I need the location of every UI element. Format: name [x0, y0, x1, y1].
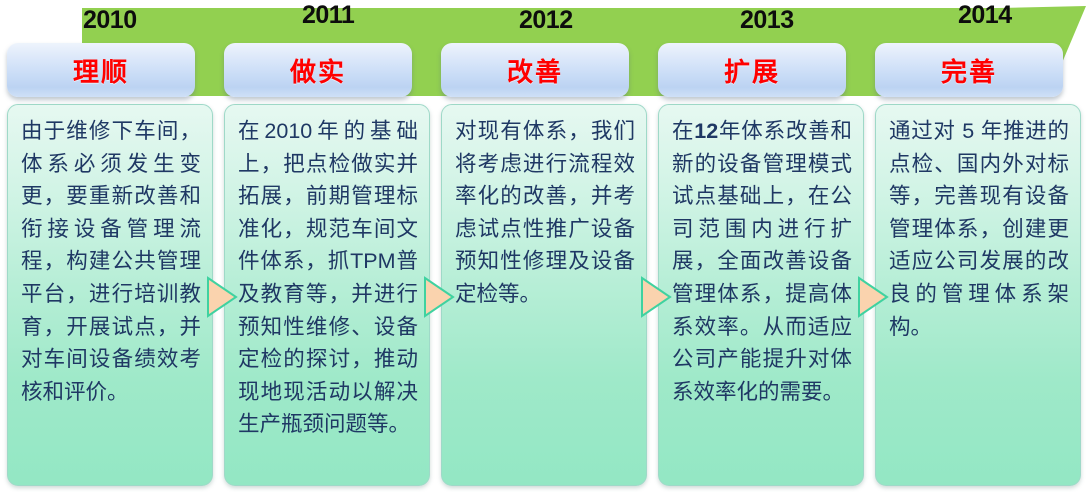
year-label-2014: 2014 [958, 1, 1012, 30]
stage-card-2010[interactable]: 由于维修下车间，体系必须发生变更，要重新改善和衔接设备管理流程，构建公共管理平台… [7, 104, 213, 486]
stage-pill-2014[interactable]: 完善 [875, 43, 1063, 97]
stage-card-2013[interactable]: 在12年体系改善和新的设备管理模式试点基础上，在公司范围内进行扩展，全面改善设备… [658, 104, 864, 486]
stage-card-text: 对现有体系，我们将考虑进行流程效率化的改善，并考虑试点性推广设备预知性修理及设备… [455, 115, 635, 311]
stage-pill-label: 做实 [290, 52, 346, 89]
connector-arrow-2 [423, 276, 455, 318]
stage-card-2012[interactable]: 对现有体系，我们将考虑进行流程效率化的改善，并考虑试点性推广设备预知性修理及设备… [441, 104, 647, 486]
stage-pill-2010[interactable]: 理顺 [7, 43, 195, 97]
right-triangle-arrow-icon [642, 278, 670, 316]
stage-card-text-rest: 年体系改善和新的设备管理模式试点基础上，在公司范围内进行扩展，全面改善设备管理体… [672, 119, 852, 404]
year-label-2012: 2012 [519, 6, 573, 35]
stage-pill-label: 完善 [941, 52, 997, 89]
stage-card-text: 由于维修下车间，体系必须发生变更，要重新改善和衔接设备管理流程，构建公共管理平台… [21, 115, 201, 408]
year-label-2011: 2011 [302, 1, 354, 30]
stage-card-text: 通过对 5 年推进的点检、国内外对标等，完善现有设备管理体系，创建更适应公司发展… [889, 115, 1069, 343]
stage-pill-2012[interactable]: 改善 [441, 43, 629, 97]
stage-card-text: 在2010年的基础上，把点检做实并拓展，前期管理标准化，规范车间文件体系，抓TP… [238, 115, 418, 441]
stage-pill-2011[interactable]: 做实 [224, 43, 412, 97]
stage-pill-label: 扩展 [724, 52, 780, 89]
connector-arrow-4 [857, 276, 889, 318]
stage-pill-label: 理顺 [73, 52, 129, 89]
connector-arrow-3 [640, 276, 672, 318]
stage-card-text-prefix: 在 [672, 119, 694, 143]
stage-card-text: 在12年体系改善和新的设备管理模式试点基础上，在公司范围内进行扩展，全面改善设备… [672, 115, 852, 408]
right-triangle-arrow-icon [859, 278, 887, 316]
connector-arrow-1 [206, 276, 238, 318]
stage-card-2011[interactable]: 在2010年的基础上，把点检做实并拓展，前期管理标准化，规范车间文件体系，抓TP… [224, 104, 430, 486]
stage-card-2014[interactable]: 通过对 5 年推进的点检、国内外对标等，完善现有设备管理体系，创建更适应公司发展… [875, 104, 1081, 486]
stage-card-text-emphasis: 12 [694, 119, 718, 143]
timeline-roadmap-slide: 2010 2011 2012 2013 2014 理顺 做实 改善 扩展 完善 … [0, 0, 1086, 492]
year-label-2010: 2010 [83, 6, 137, 35]
year-label-2013: 2013 [740, 6, 794, 35]
right-triangle-arrow-icon [208, 278, 236, 316]
stage-pill-2013[interactable]: 扩展 [658, 43, 846, 97]
stage-pill-label: 改善 [507, 52, 563, 89]
right-triangle-arrow-icon [425, 278, 453, 316]
